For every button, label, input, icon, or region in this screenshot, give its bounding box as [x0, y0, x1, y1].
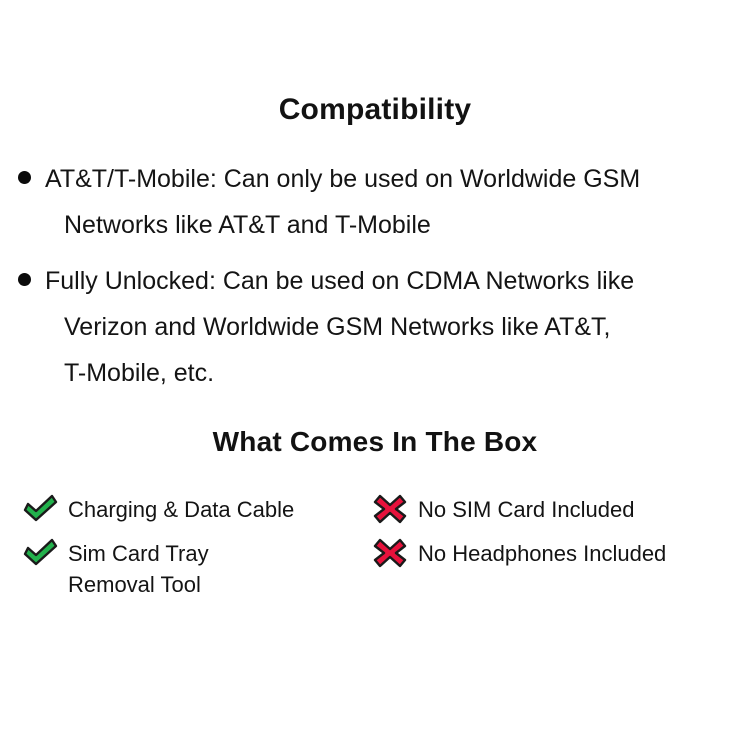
bullet-item-fully-unlocked: Fully Unlocked: Can be used on CDMA Netw…: [18, 258, 740, 396]
box-item-label: Charging & Data Cable: [68, 492, 294, 525]
green-check-icon: [22, 537, 58, 569]
bullet-line-continuation: Verizon and Worldwide GSM Networks like …: [18, 304, 740, 350]
bullet-dot-icon: [18, 171, 31, 184]
box-item-included: Charging & Data Cable: [22, 492, 372, 528]
bullet-line: Fully Unlocked: Can be used on CDMA Netw…: [18, 258, 740, 304]
box-contents-heading: What Comes In The Box: [0, 428, 750, 456]
red-cross-icon: [372, 493, 408, 525]
box-item-label: Sim Card Tray Removal Tool: [68, 536, 209, 600]
bullet-line: AT&T/T-Mobile: Can only be used on World…: [18, 156, 740, 202]
green-check-icon: [22, 493, 58, 525]
bullet-line-continuation: T-Mobile, etc.: [18, 350, 740, 396]
compatibility-heading: Compatibility: [0, 95, 750, 125]
box-item-included: Sim Card Tray Removal Tool: [22, 536, 372, 600]
box-item-excluded: No SIM Card Included: [372, 492, 742, 528]
compatibility-bullet-list: AT&T/T-Mobile: Can only be used on World…: [18, 156, 740, 406]
bullet-text: AT&T/T-Mobile: Can only be used on World…: [45, 165, 640, 193]
box-contents-excluded-column: No SIM Card Included No Headphones Inclu…: [372, 492, 742, 580]
box-item-label: No SIM Card Included: [418, 492, 634, 525]
bullet-text: Fully Unlocked: Can be used on CDMA Netw…: [45, 267, 634, 295]
bullet-item-att-tmobile: AT&T/T-Mobile: Can only be used on World…: [18, 156, 740, 248]
box-item-excluded: No Headphones Included: [372, 536, 742, 572]
bullet-line-continuation: Networks like AT&T and T-Mobile: [18, 202, 740, 248]
red-cross-icon: [372, 537, 408, 569]
box-contents-included-column: Charging & Data Cable Sim Card Tray Remo…: [22, 492, 372, 608]
box-item-label: No Headphones Included: [418, 536, 666, 569]
bullet-dot-icon: [18, 273, 31, 286]
compatibility-infographic: Compatibility AT&T/T-Mobile: Can only be…: [0, 0, 750, 750]
